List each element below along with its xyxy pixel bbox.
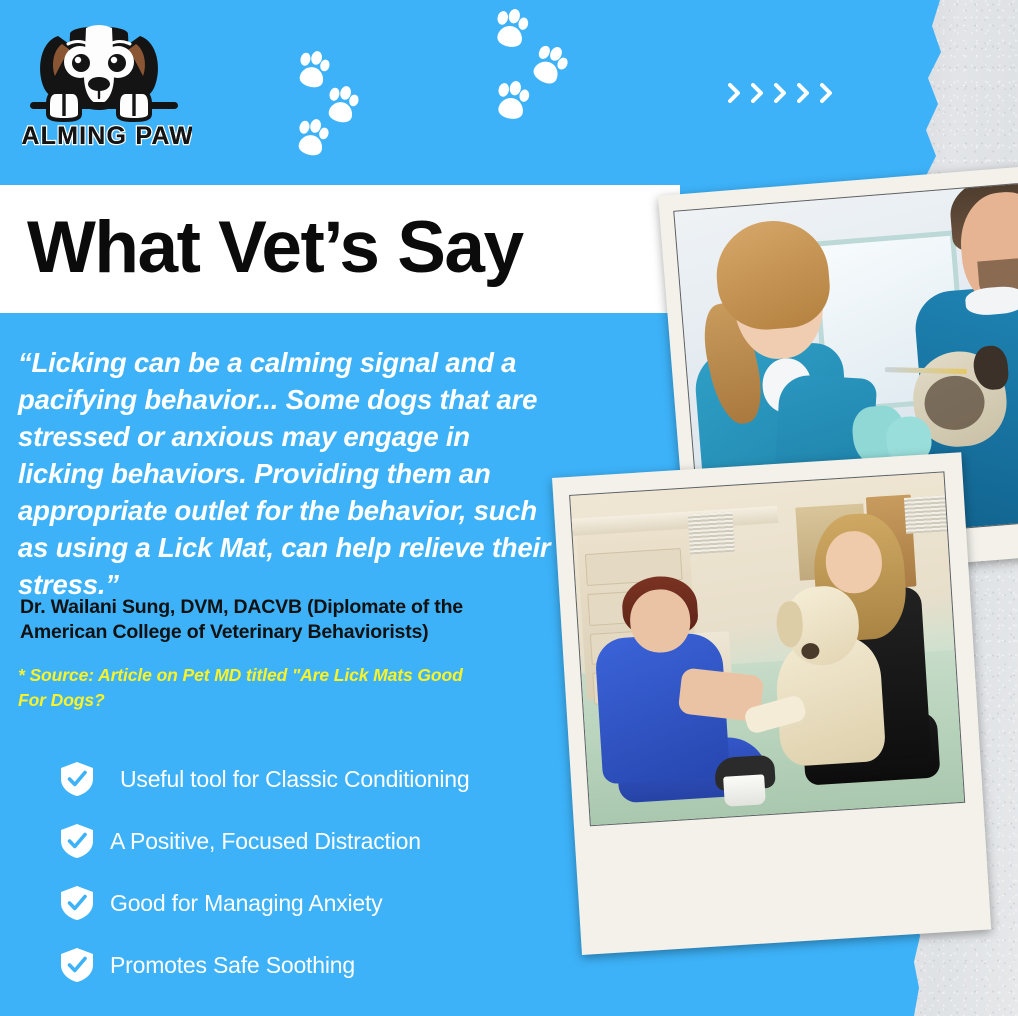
list-item: Promotes Safe Soothing	[60, 948, 580, 982]
photo-image-area	[569, 471, 965, 826]
benefits-checklist: Useful tool for Classic Conditioning A P…	[60, 762, 580, 1010]
shield-check-icon	[60, 761, 94, 797]
list-item-label: Good for Managing Anxiety	[110, 890, 382, 917]
poster-canvas: CALMING PAWS CALMING PAWS	[0, 0, 1018, 1016]
chevron-right-icon	[728, 83, 740, 103]
list-item-label: A Positive, Focused Distraction	[110, 828, 421, 855]
page-title: What Vet’s Say	[27, 198, 523, 298]
shield-check-icon	[60, 947, 94, 983]
quote-attribution: Dr. Wailani Sung, DVM, DACVB (Diplomate …	[20, 595, 540, 645]
shield-check-icon	[60, 885, 94, 921]
chevron-arrow-row	[728, 83, 832, 103]
poster-header: CALMING PAWS CALMING PAWS	[0, 0, 1018, 186]
paw-print-icon	[286, 114, 337, 165]
list-item: Useful tool for Classic Conditioning	[60, 762, 580, 796]
chevron-right-icon	[751, 83, 763, 103]
svg-text:CALMING PAWS: CALMING PAWS	[22, 122, 192, 150]
quote-source-note: * Source: Article on Pet MD titled "Are …	[18, 663, 488, 713]
vets-bandaging-labrador-photo	[552, 452, 991, 955]
paw-print-cluster-left	[285, 50, 375, 160]
vet-clinic-floor-scene	[570, 472, 964, 825]
chevron-right-icon	[774, 83, 786, 103]
paw-print-cluster-right	[488, 8, 598, 128]
list-item: Good for Managing Anxiety	[60, 886, 580, 920]
list-item-label: Useful tool for Classic Conditioning	[120, 766, 469, 793]
chevron-right-icon	[820, 83, 832, 103]
brand-logo[interactable]: CALMING PAWS CALMING PAWS	[22, 18, 192, 150]
vet-quote-text: “Licking can be a calming signal and a p…	[18, 344, 563, 603]
list-item-label: Promotes Safe Soothing	[110, 952, 355, 979]
list-item: A Positive, Focused Distraction	[60, 824, 580, 858]
dog-face-logo: CALMING PAWS CALMING PAWS	[22, 18, 192, 150]
chevron-right-icon	[797, 83, 809, 103]
paw-print-icon	[484, 4, 536, 56]
paw-print-icon	[485, 76, 537, 128]
shield-check-icon	[60, 823, 94, 859]
